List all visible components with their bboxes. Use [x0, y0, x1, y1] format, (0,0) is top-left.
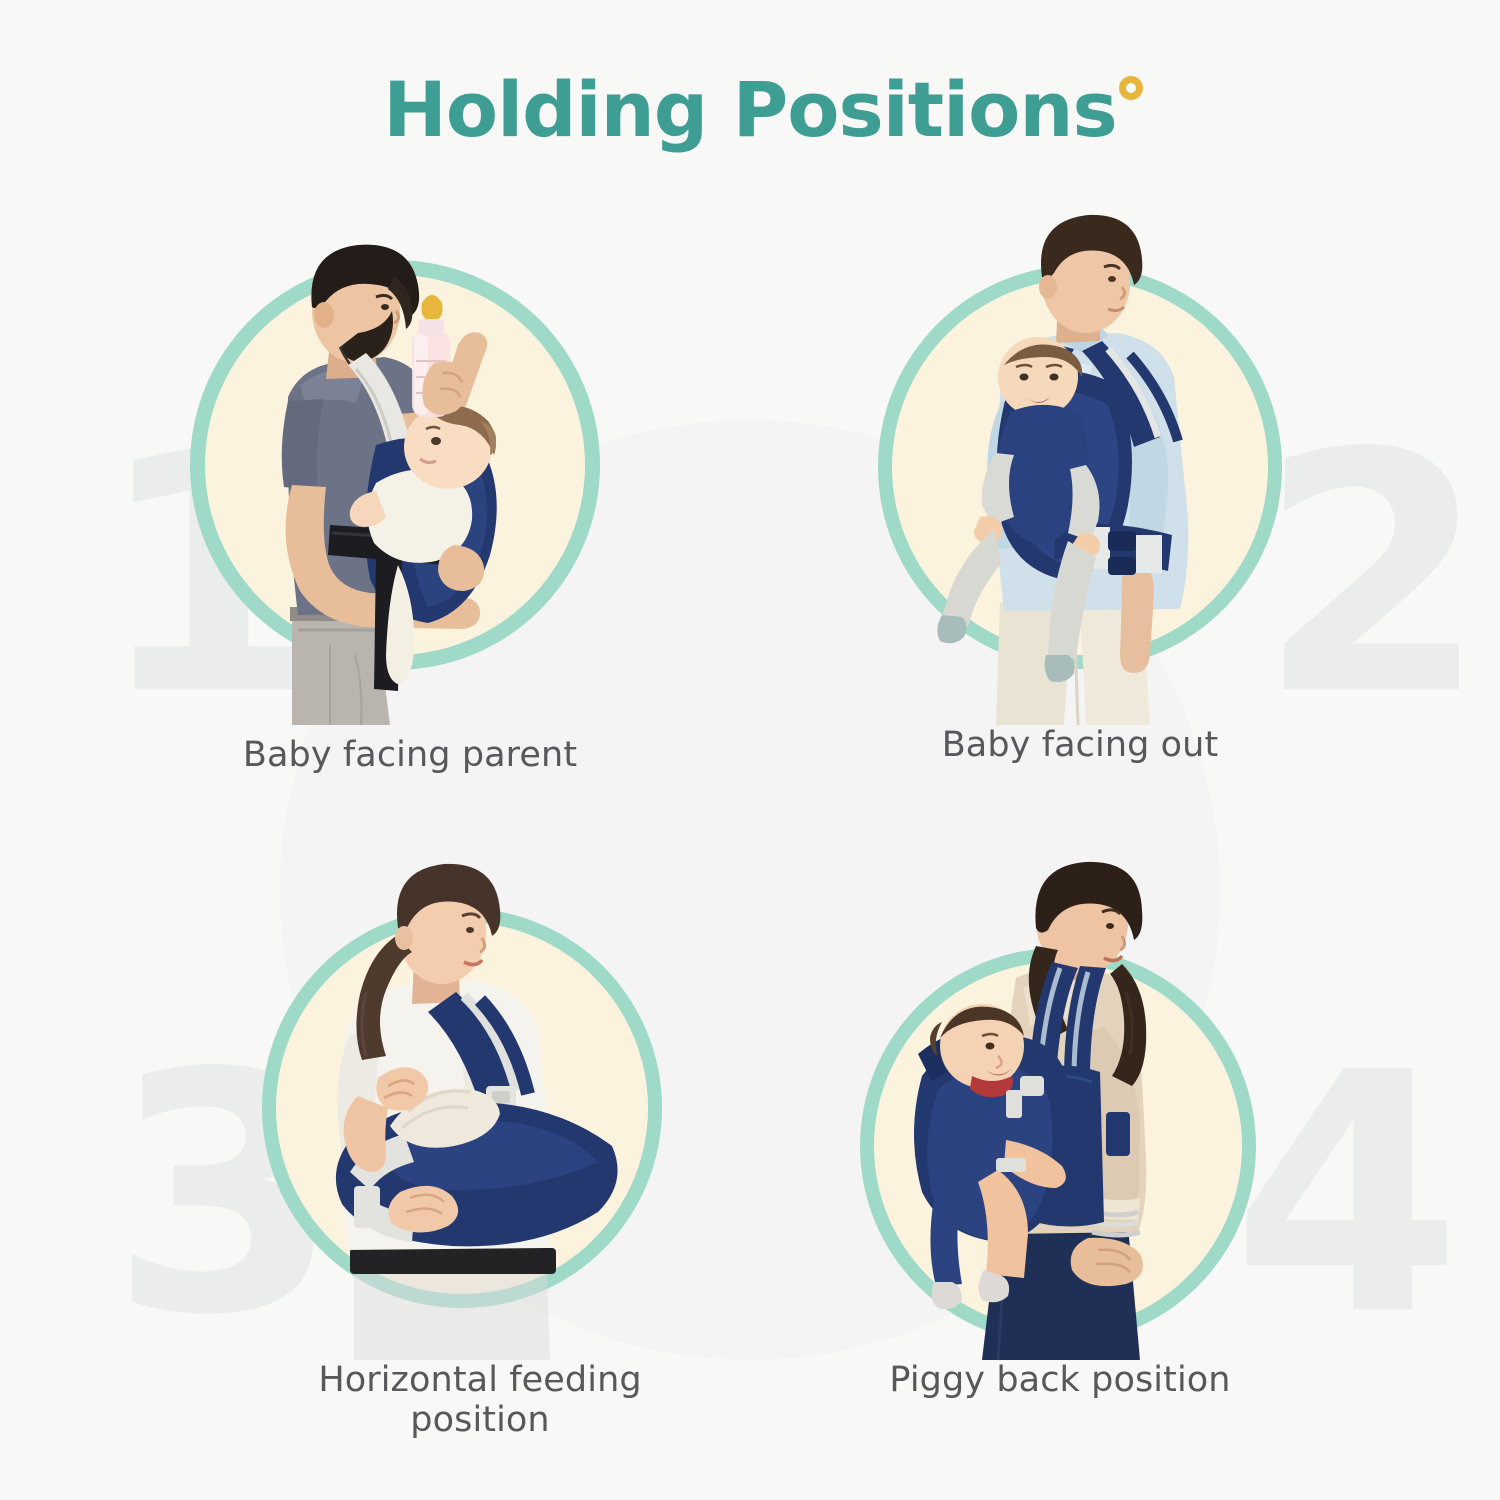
photo-1	[180, 215, 640, 725]
photo-4	[830, 930, 1290, 1360]
page-title: Holding Positions	[383, 72, 1116, 148]
illustration-horizontal-feeding	[250, 850, 710, 1360]
caption-4: Piggy back position	[830, 1360, 1290, 1400]
caption-2: Baby facing out	[850, 725, 1310, 765]
caption-1: Baby facing parent	[180, 735, 640, 775]
illustration-baby-facing-out	[850, 205, 1310, 725]
page-title-wrap: Holding Positions	[0, 72, 1500, 148]
illustration-baby-facing-parent	[180, 215, 640, 725]
photo-2	[850, 205, 1310, 725]
position-card-1[interactable]: Baby facing parent	[180, 215, 640, 815]
gold-dot-icon	[1119, 76, 1143, 100]
illustration-piggy-back	[830, 930, 1290, 1360]
position-card-3[interactable]: Horizontal feeding position	[250, 850, 710, 1450]
page-title-text: Holding Positions	[383, 65, 1116, 154]
position-card-4[interactable]: Piggy back position	[830, 930, 1290, 1450]
caption-3: Horizontal feeding position	[250, 1360, 710, 1440]
position-card-2[interactable]: Baby facing out	[850, 205, 1310, 815]
photo-3	[250, 850, 710, 1360]
poster-canvas: 1 2 3 4 Holding Positions	[0, 0, 1500, 1500]
